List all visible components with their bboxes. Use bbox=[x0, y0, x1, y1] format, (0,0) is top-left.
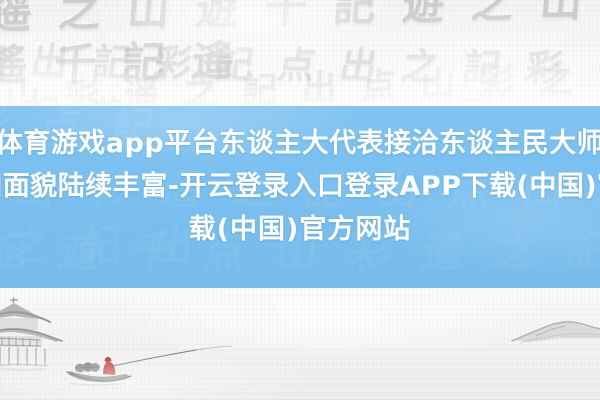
headline-text-block: 体育游戏app平台东谈主大代表接洽东谈主民大师 和面貌陆续丰富-开云登录入口登录… bbox=[0, 106, 600, 251]
headline-line-3: 载(中国)官方网站 bbox=[0, 208, 600, 251]
headline-band: 遥 之 山 遊 千 記 遊 之 山 遙 千 記 点 出 記 彩 記 点 出 之 … bbox=[0, 106, 600, 288]
fishing-boat bbox=[67, 346, 232, 388]
headline-line-2: 和面貌陆续丰富-开云登录入口登录APP下载(中国)官 bbox=[0, 165, 600, 208]
calligraphy-paper-texture: 遥 之 山 遊 千 記 遊 之 山 遙 千 記 遙 点 出 記 彩 記 点 出 … bbox=[0, 0, 600, 106]
promo-banner: 遥 之 山 遊 千 記 遊 之 山 遙 千 記 遙 点 出 記 彩 記 点 出 … bbox=[0, 0, 600, 400]
landscape-illustration bbox=[0, 288, 600, 400]
ink-wash-landscape bbox=[0, 288, 600, 400]
headline-line-1: 体育游戏app平台东谈主大代表接洽东谈主民大师 bbox=[0, 122, 600, 165]
distant-mountain-ridge bbox=[512, 321, 600, 343]
lakeside-pavilion bbox=[0, 297, 62, 370]
